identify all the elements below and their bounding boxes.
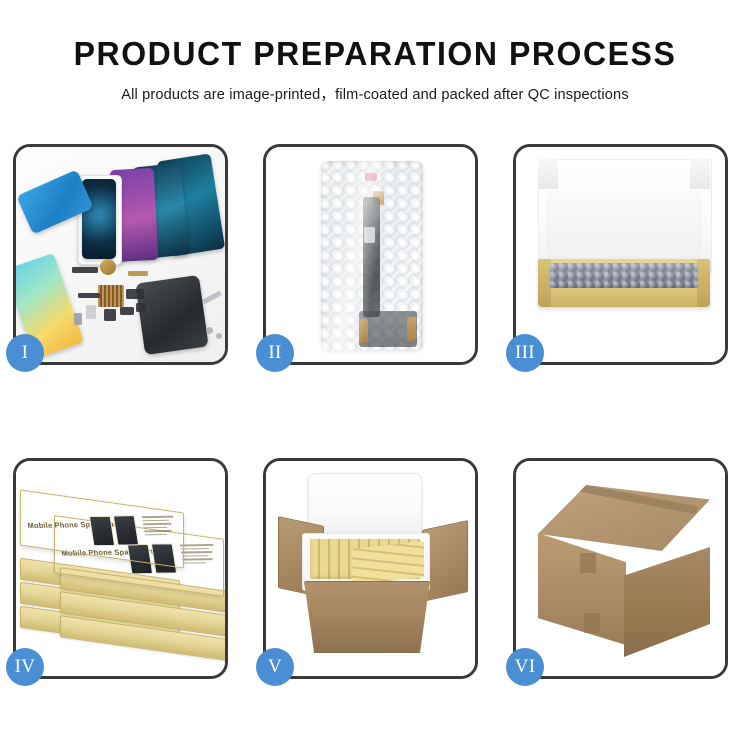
printed-box-lid: Mobile Phone Spare Parts	[20, 489, 184, 568]
process-step-5: V	[263, 458, 478, 679]
step-3-image	[516, 147, 725, 362]
bubble-wrap-sleeve	[321, 161, 423, 351]
step-2-image	[266, 147, 475, 362]
process-step-3: III	[513, 144, 728, 365]
step-2-artwork	[266, 147, 475, 362]
step-3-artwork	[516, 147, 725, 362]
carton-flap-tab-upper	[580, 553, 596, 573]
step-4-image: Mobile Phone Spare Parts Mobile Phone Sp…	[16, 461, 225, 676]
foam-backing-sheet	[546, 191, 702, 263]
step-5-numeral-badge: V	[256, 648, 294, 686]
process-step-4: Mobile Phone Spare Parts Mobile Phone Sp…	[13, 458, 228, 679]
box-spec-lines	[142, 516, 177, 536]
packed-yellow-boxes-angled	[352, 541, 424, 585]
carton-flap-tab-lower	[584, 613, 600, 633]
step-1-artwork	[16, 147, 225, 362]
step-1-image	[16, 147, 225, 362]
step-1-numeral-badge: I	[6, 334, 44, 372]
tray-corner-right	[697, 259, 710, 307]
page-title: PRODUCT PREPARATION PROCESS	[11, 0, 739, 73]
carton-tape-seam	[578, 484, 697, 515]
yellow-box-tray	[538, 259, 710, 307]
step-2-numeral-badge: II	[256, 334, 294, 372]
box-lid-fold-left	[538, 159, 558, 189]
box-spec-lines	[180, 544, 217, 564]
foam-pellets-fill	[550, 263, 698, 288]
process-step-2: II	[263, 144, 478, 365]
process-step-grid: I II	[13, 144, 737, 679]
step-4-numeral-badge: IV	[6, 648, 44, 686]
process-step-1: I	[13, 144, 228, 365]
sealed-carton	[534, 485, 714, 655]
step-4-artwork: Mobile Phone Spare Parts Mobile Phone Sp…	[16, 461, 225, 676]
step-6-image	[516, 461, 725, 676]
retail-box-stack: Mobile Phone Spare Parts Mobile Phone Sp…	[20, 483, 225, 663]
step-5-image	[266, 461, 475, 676]
page-subtitle: All products are image-printed，film-coat…	[0, 73, 750, 104]
step-3-numeral-badge: III	[506, 334, 544, 372]
infographic-page: PRODUCT PREPARATION PROCESS All products…	[0, 0, 750, 750]
step-6-artwork	[516, 461, 725, 676]
header: PRODUCT PREPARATION PROCESS All products…	[0, 0, 750, 104]
box-art-screen-left	[89, 516, 115, 547]
bubble-wrap-sheen	[321, 161, 423, 351]
carton-body	[304, 581, 430, 653]
carton-side-face	[624, 547, 710, 657]
step-5-artwork	[266, 461, 475, 676]
carton-front-face	[538, 533, 626, 645]
styrofoam-lid	[308, 473, 422, 541]
process-step-6: VI	[513, 458, 728, 679]
box-art-screen-right	[113, 515, 139, 546]
step-6-numeral-badge: VI	[506, 648, 544, 686]
carton-top-face	[538, 485, 710, 551]
box-lid-fold-right	[690, 159, 710, 189]
